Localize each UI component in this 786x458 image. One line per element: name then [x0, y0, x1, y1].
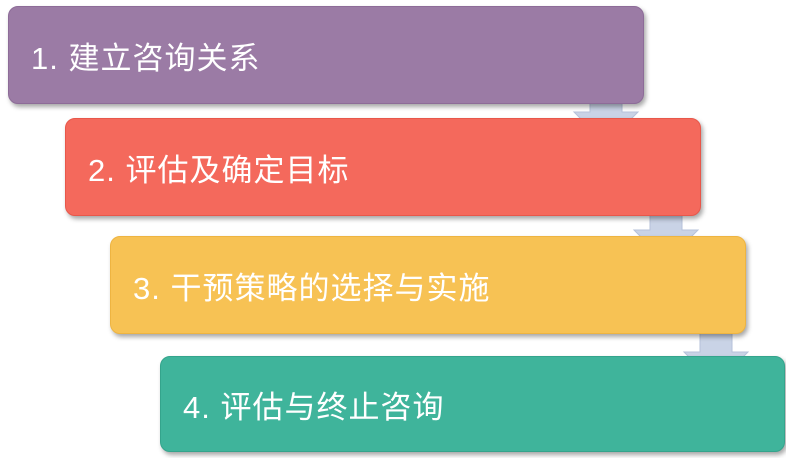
process-step-3-label: 3. 干预策略的选择与实施 [111, 263, 490, 308]
process-step-3: 3. 干预策略的选择与实施 [110, 236, 746, 334]
process-step-4: 4. 评估与终止咨询 [160, 356, 785, 452]
process-step-1-label: 1. 建立咨询关系 [9, 33, 260, 78]
process-diagram: 1. 建立咨询关系 2. 评估及确定目标 3. 干预策略的选择与实施 4. 评估… [0, 0, 786, 458]
process-step-2-label: 2. 评估及确定目标 [66, 145, 349, 190]
process-step-2: 2. 评估及确定目标 [65, 118, 701, 216]
process-step-4-label: 4. 评估与终止咨询 [161, 382, 444, 427]
process-step-1: 1. 建立咨询关系 [8, 6, 644, 104]
